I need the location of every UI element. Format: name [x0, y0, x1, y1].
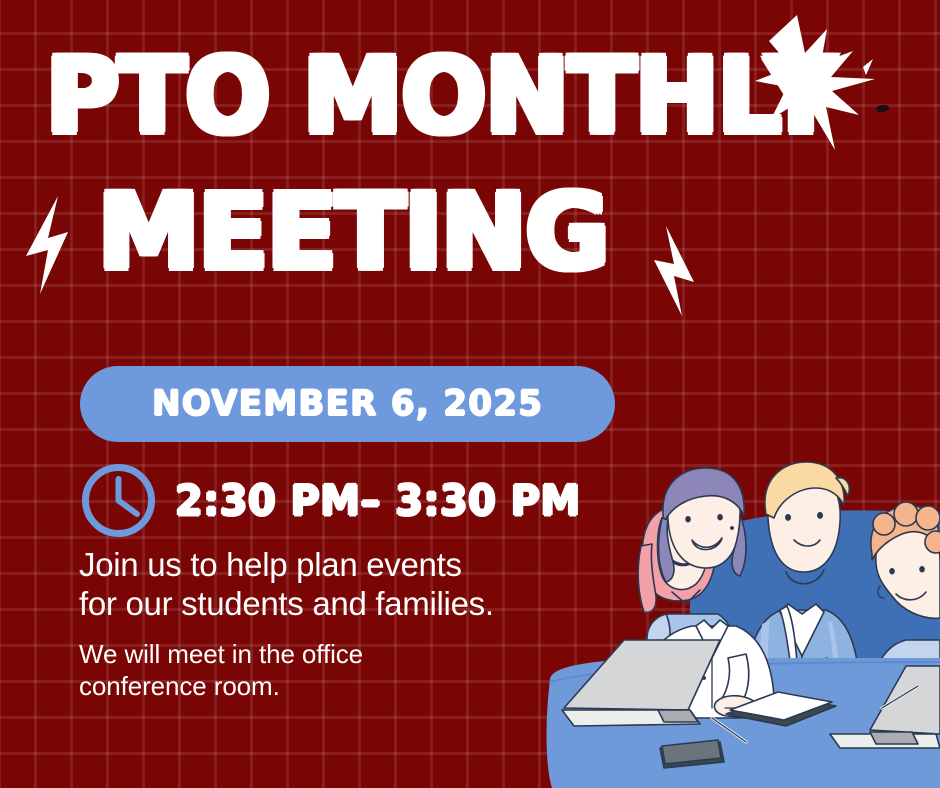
sparkle-bolt-icon — [26, 196, 68, 294]
page-title-line-2: MEETING — [98, 180, 608, 284]
date-badge: NOVEMBER 6, 2025 — [80, 366, 615, 442]
clock-icon — [80, 462, 157, 539]
time-row: 2:30 PM– 3:30 PM — [80, 460, 602, 540]
description-primary: Join us to help plan events for our stud… — [79, 545, 494, 624]
page-title-line-1: PTO MONTHLY — [46, 44, 836, 148]
time-label: 2:30 PM– 3:30 PM — [175, 476, 581, 525]
date-badge-label: NOVEMBER 6, 2025 — [152, 384, 543, 424]
sparkle-bolt-icon — [654, 226, 694, 316]
description-secondary: We will meet in the office conference ro… — [79, 639, 363, 702]
dot-accent-icon — [876, 104, 890, 113]
team-meeting-illustration — [540, 418, 940, 788]
poster-canvas: PTO MONTHLY MEETING NOVEMBER 6, 2025 2:3… — [0, 0, 940, 788]
